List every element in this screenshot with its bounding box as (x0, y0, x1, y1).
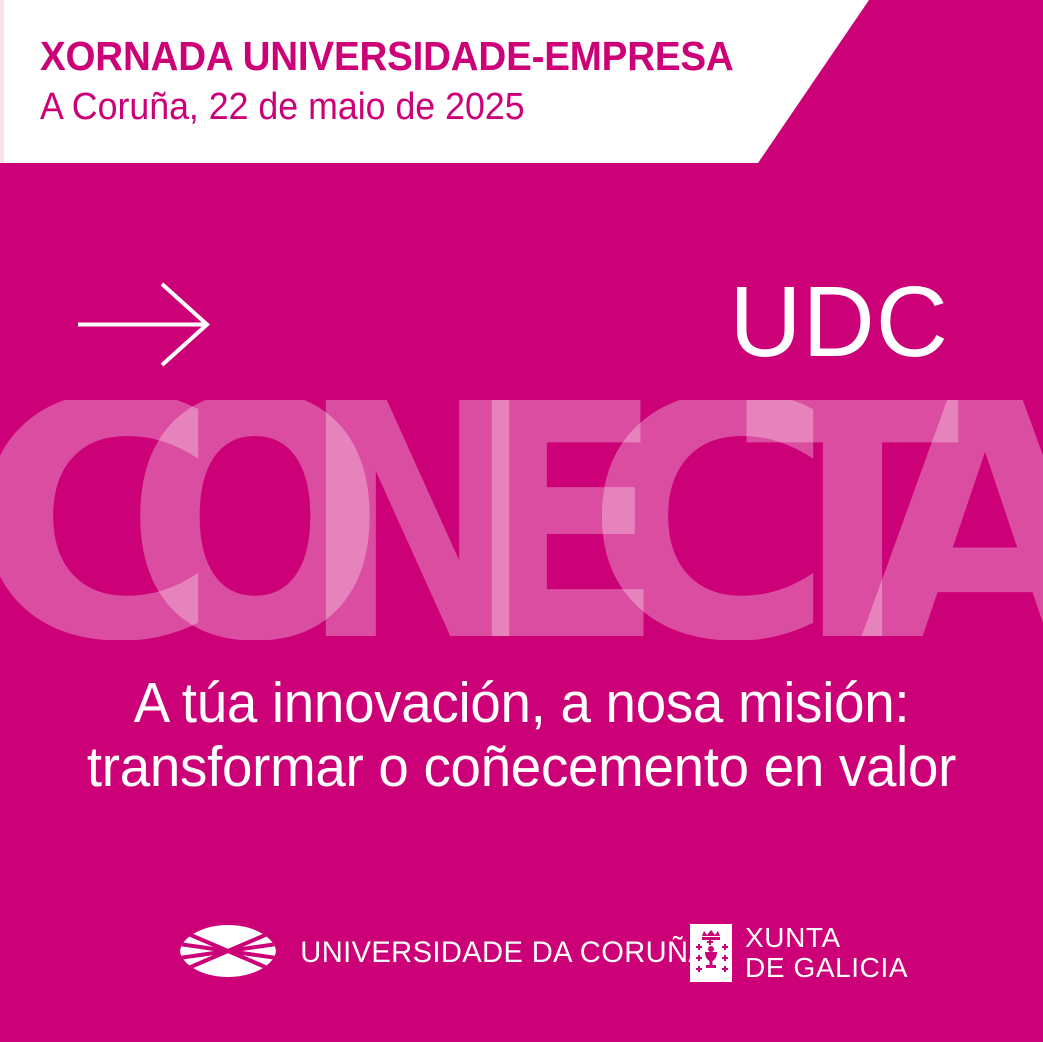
tagline-line-2: transformar o coñecemento en valor (21, 736, 1022, 800)
xunta-logo-line-1: XUNTA (745, 923, 908, 953)
event-date-location: A Coruña, 22 de maio de 2025 (40, 88, 525, 126)
tagline: A túa innovación, a nosa misión: transfo… (0, 672, 1043, 800)
header-edge-strip (0, 0, 4, 163)
udc-lens-emblem-icon (178, 923, 278, 984)
udc-logo-label: UNIVERSIDADE DA CORUÑA (300, 936, 708, 970)
tagline-line-1: A túa innovación, a nosa misión: (21, 672, 1022, 736)
header-banner (0, 0, 1043, 163)
arrow-right-icon (76, 278, 216, 372)
footer-logo-bar: UNIVERSIDADE DA CORUÑA (0, 918, 1043, 990)
conecta-watermark: C O N E C T A (0, 400, 1043, 640)
udc-wordmark: UDC (729, 272, 949, 372)
galicia-coat-of-arms-icon (690, 924, 732, 982)
xunta-logo-label: XUNTA DE GALICIA (745, 923, 908, 983)
xunta-logo-line-2: DE GALICIA (745, 953, 908, 983)
udc-logo: UNIVERSIDADE DA CORUÑA (178, 918, 715, 988)
poster-canvas: XORNADA UNIVERSIDADE-EMPRESA A Coruña, 2… (0, 0, 1043, 1042)
xunta-logo: XUNTA DE GALICIA (690, 920, 908, 986)
page-title: XORNADA UNIVERSIDADE-EMPRESA (40, 36, 734, 77)
svg-text:A: A (860, 400, 1043, 640)
